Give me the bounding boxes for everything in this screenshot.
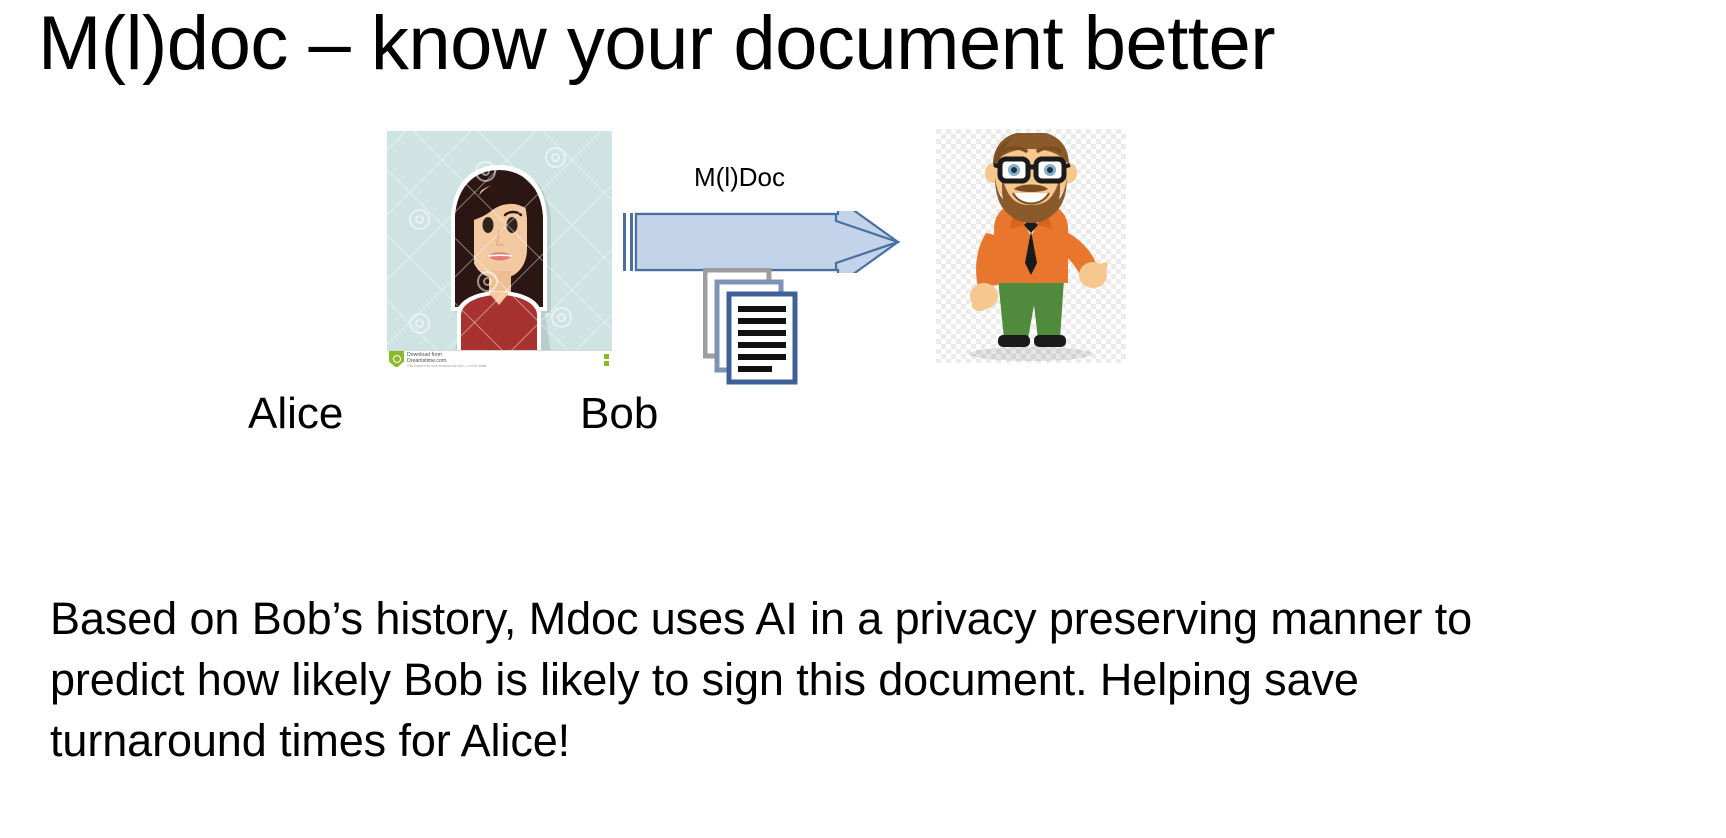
document-stack-icon <box>703 268 799 386</box>
watermark-spiral-icon <box>475 161 496 182</box>
mdoc-flow-arrow <box>622 211 900 273</box>
dreamstime-shield-icon <box>389 351 404 367</box>
caption-alice: Alice <box>248 386 343 442</box>
watermark-spiral-icon <box>409 209 430 230</box>
alice-stock-image: Download from Dreamstime.com This image … <box>387 131 612 367</box>
slide-title: M(l)doc – know your document better <box>38 0 1598 92</box>
dreamstime-label: Download from Dreamstime.com <box>407 352 446 364</box>
dreamstime-watermark-bar: Download from Dreamstime.com This image … <box>387 350 612 367</box>
slide-body-text: Based on Bob’s history, Mdoc uses AI in … <box>50 588 1550 771</box>
alice-avatar-illustration <box>441 163 561 350</box>
watermark-spiral-icon <box>551 307 572 328</box>
watermark-spiral-icon <box>545 147 566 168</box>
dreamstime-dot-icon <box>604 361 609 366</box>
watermark-spiral-icon <box>477 271 498 292</box>
caption-bob: Bob <box>580 386 658 442</box>
arrow-label: M(l)Doc <box>694 160 914 194</box>
alice-photo-area <box>387 131 612 350</box>
dreamstime-dot-icon <box>604 354 609 359</box>
dreamstime-sublabel: This image is for your personal use only… <box>407 364 487 368</box>
bob-character-illustration <box>950 133 1112 361</box>
presentation-slide: M(l)doc – know your document better <box>0 0 1726 838</box>
watermark-spiral-icon <box>409 313 430 334</box>
bob-stock-image <box>936 129 1126 363</box>
